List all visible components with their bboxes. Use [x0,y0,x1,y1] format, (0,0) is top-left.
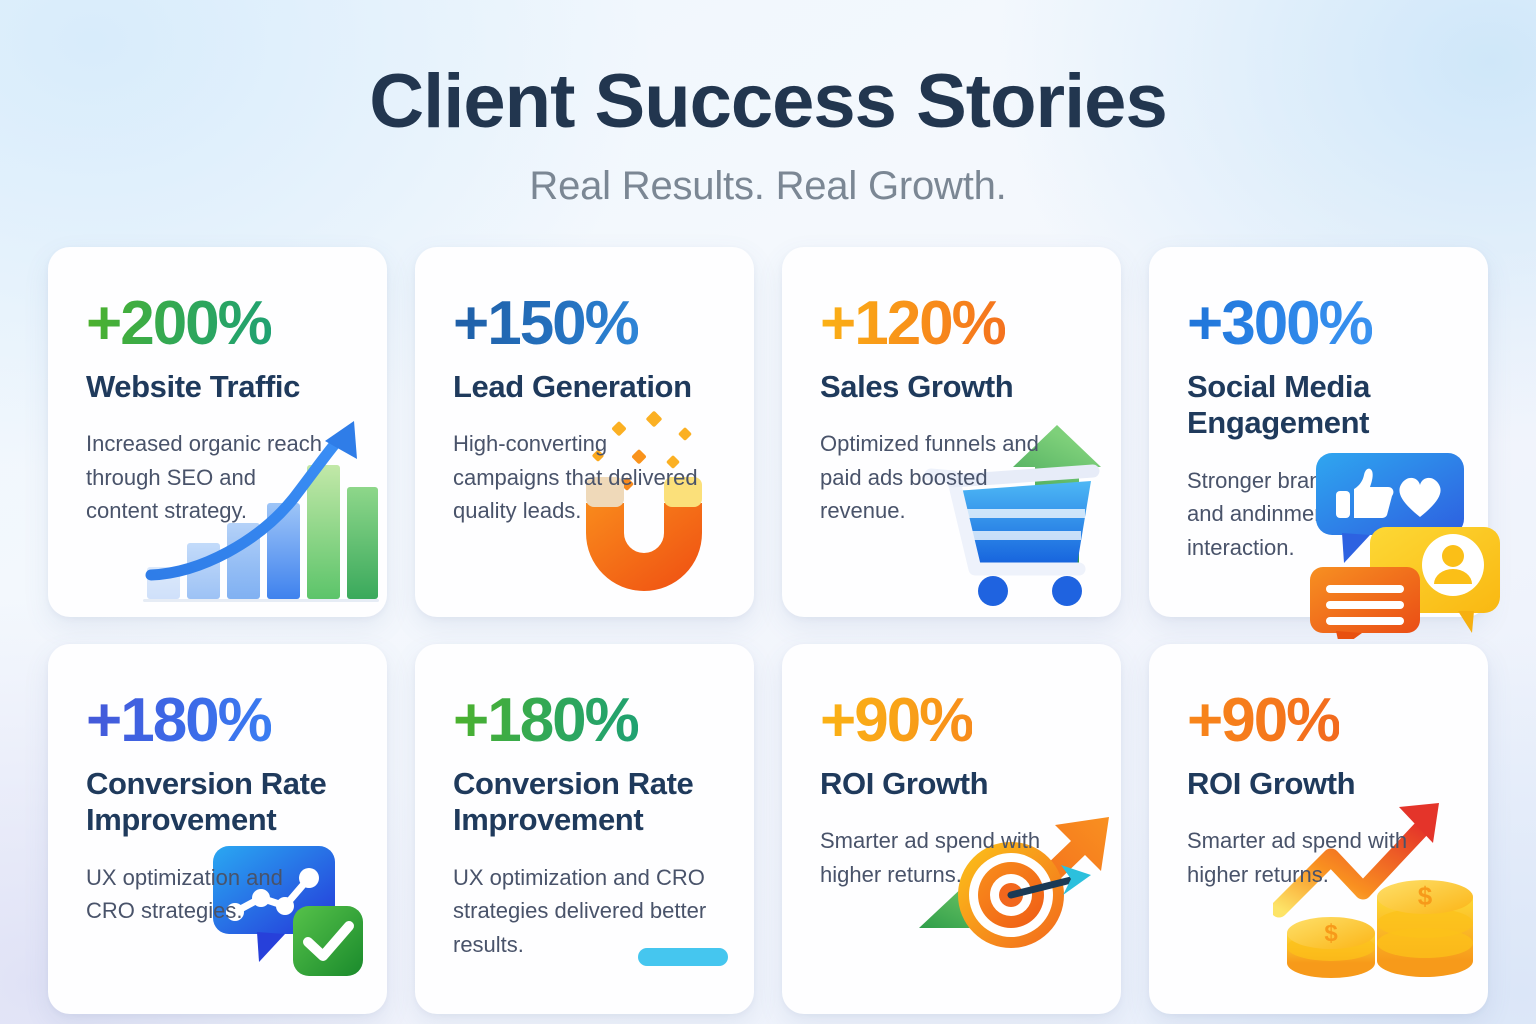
stat-card-conversion-rate-2[interactable]: +180% Conversion Rate Improvement UX opt… [415,644,754,1014]
stat-card-title: Website Traffic [86,369,336,406]
stat-card-title: Sales Growth [820,369,1070,406]
stat-value: +90% [820,690,972,752]
stat-value: +300% [1187,293,1372,355]
page-title: Client Success Stories [0,62,1536,142]
stat-card-title: ROI Growth [820,766,1070,803]
stat-card-title: Lead Generation [453,369,703,406]
stat-card-title: Social Media Engagement [1187,369,1437,442]
stat-card-description: Stronger brand presence and andinmentue … [1187,464,1433,564]
stat-value: +150% [453,293,638,355]
stats-card-grid: +200% Website Traffic Increased organic … [48,247,1488,1014]
stat-card-title: Conversion Rate Improvement [453,766,703,839]
stat-card-sales-growth[interactable]: +120% Sales Growth Optimized funnels and… [782,247,1121,617]
stat-card-description: Optimized funnels and paid ads boosted r… [820,427,1066,527]
svg-text:$: $ [1324,920,1338,947]
stat-value: +120% [820,293,1005,355]
stat-card-lead-generation[interactable]: +150% Lead Generation High-converting ca… [415,247,754,617]
stat-card-title: Conversion Rate Improvement [86,766,336,839]
page-header: Client Success Stories Real Results. Rea… [0,0,1536,209]
stat-value: +180% [86,690,271,752]
stat-card-website-traffic[interactable]: +200% Website Traffic Increased organic … [48,247,387,617]
stat-card-roi-growth-1[interactable]: +90% ROI Growth Smarter ad spend with hi… [782,644,1121,1014]
stat-card-social-media-engagement[interactable]: +300% Social Media Engagement Stronger b… [1149,247,1488,617]
stat-value: +90% [1187,690,1339,752]
stat-card-description: High-converting campaigns that delivered… [453,427,699,527]
stat-card-description: Increased organic reach through SEO and … [86,427,332,527]
stat-value: +180% [453,690,638,752]
stat-card-description: Smarter ad spend with higher returns. [1187,824,1433,891]
stat-card-roi-growth-2[interactable]: +90% ROI Growth Smarter ad spend with hi… [1149,644,1488,1014]
stat-card-title: ROI Growth [1187,766,1437,803]
stat-card-description: Smarter ad spend with higher returns. [820,824,1066,891]
stat-card-description: UX optimization and CRO strategies deliv… [453,861,716,961]
stat-card-description: UX optimization and CRO strategies. [86,861,332,928]
page-subtitle: Real Results. Real Growth. [0,164,1536,209]
stat-card-conversion-rate-1[interactable]: +180% Conversion Rate Improvement UX opt… [48,644,387,1014]
stat-value: +200% [86,293,271,355]
